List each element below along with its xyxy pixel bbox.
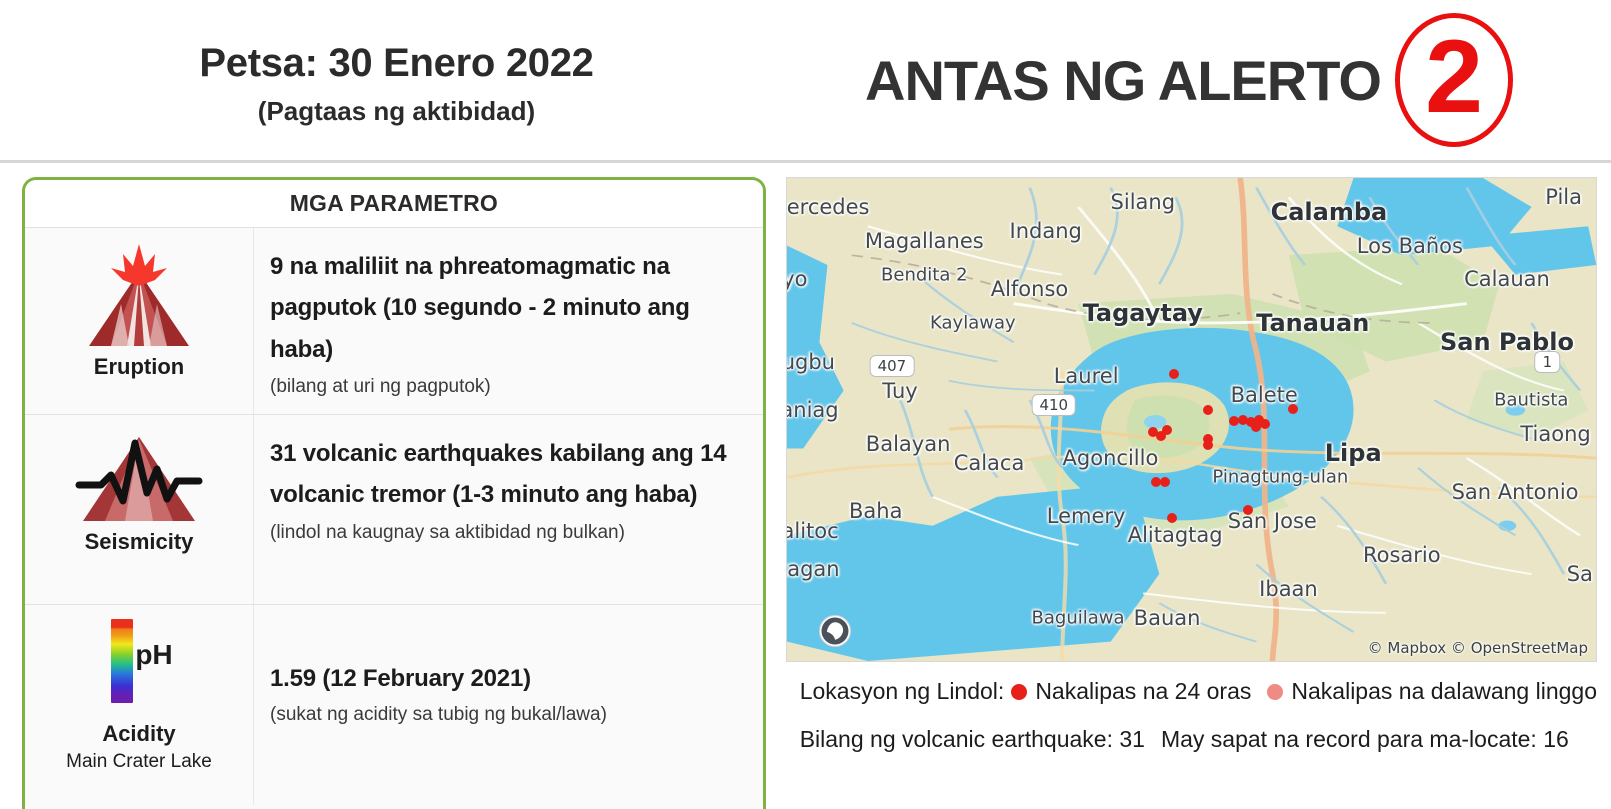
road-shield-label: 1: [1535, 351, 1561, 373]
road-shield-label: 410: [1031, 394, 1076, 416]
acidity-value: 1.59 (12 February 2021): [270, 663, 745, 694]
road-shield-label: 407: [870, 355, 915, 377]
legend-older-label: Nakalipas na dalawang linggo: [1291, 678, 1597, 706]
parameter-row-eruption: Eruption 9 na maliliit na phreatomagmati…: [25, 228, 763, 415]
alert-level-number: 2: [1395, 13, 1513, 147]
acidity-label: Acidity: [102, 721, 175, 747]
earthquake-marker[interactable]: [1160, 477, 1170, 487]
eruption-caption: (bilang at uri ng pagputok): [270, 374, 745, 400]
seismograph-icon: [73, 429, 205, 525]
earthquake-marker[interactable]: [1162, 425, 1172, 435]
header-bar: Petsa: 30 Enero 2022 (Pagtaas ng aktibid…: [0, 0, 1611, 163]
ph-icon-text: pH: [135, 641, 172, 669]
page-title: Petsa: 30 Enero 2022: [199, 41, 593, 85]
legend-recent-label: Nakalipas na 24 oras: [1035, 678, 1251, 706]
alert-level-label: ANTAS NG ALERTO: [865, 48, 1381, 113]
map-legend: Lokasyon ng Lindol: Nakalipas na 24 oras…: [786, 662, 1597, 753]
main-content: MGA PARAMETRO Eruption 9: [0, 163, 1611, 809]
parameters-panel: MGA PARAMETRO Eruption 9: [22, 177, 766, 809]
ph-gradient-bar: [111, 619, 133, 703]
seismicity-icon-cell: Seismicity: [25, 415, 253, 555]
eruption-text-cell: 9 na maliliit na phreatomagmatic na pagp…: [253, 228, 763, 414]
earthquake-marker[interactable]: [1243, 505, 1253, 515]
earthquake-marker[interactable]: [1203, 440, 1213, 450]
legend-location-label: Lokasyon ng Lindol:: [800, 678, 1005, 706]
eruption-label: Eruption: [94, 354, 184, 380]
page-subtitle: (Pagtaas ng aktibidad): [258, 97, 535, 126]
eruption-icon-cell: Eruption: [25, 228, 253, 380]
acidity-caption: (sukat ng acidity sa tubig ng bukal/lawa…: [270, 702, 745, 728]
legend-count-label: Bilang ng volcanic earthquake: 31: [800, 726, 1145, 754]
parameter-row-acidity: pH Acidity Main Crater Lake 1.59 (12 Feb…: [25, 605, 763, 805]
seismicity-caption: (lindol na kaugnay sa aktibidad ng bulka…: [270, 520, 745, 546]
earthquake-marker[interactable]: [1151, 477, 1161, 487]
parameters-panel-title: MGA PARAMETRO: [25, 180, 763, 228]
legend-line-counts: Bilang ng volcanic earthquake: 31 May sa…: [800, 726, 1597, 754]
seismicity-text-cell: 31 volcanic earthquakes kabilang ang 14 …: [253, 415, 763, 604]
seismicity-value: 31 volcanic earthquakes kabilang ang 14 …: [270, 433, 745, 516]
legend-recent-dot-icon: [1011, 684, 1027, 700]
alert-level-block: ANTAS NG ALERTO 2: [793, 0, 1611, 160]
acidity-text-cell: 1.59 (12 February 2021) (sukat ng acidit…: [253, 605, 763, 805]
eruption-value: 9 na maliliit na phreatomagmatic na pagp…: [270, 246, 745, 370]
map-attribution: © Mapbox © OpenStreetMap: [1368, 639, 1588, 657]
earthquake-marker[interactable]: [1167, 513, 1177, 523]
map-basemap: [787, 178, 1596, 661]
earthquake-marker[interactable]: [1203, 405, 1213, 415]
ph-scale-icon: pH: [105, 619, 172, 717]
volcano-icon: [81, 242, 197, 350]
legend-located-label: May sapat na record para ma-locate: 16: [1161, 726, 1569, 754]
legend-line-locations: Lokasyon ng Lindol: Nakalipas na 24 oras…: [800, 678, 1597, 706]
mapbox-logo-icon[interactable]: [819, 615, 851, 647]
acidity-icon-cell: pH Acidity Main Crater Lake: [25, 605, 253, 773]
acidity-sublabel: Main Crater Lake: [66, 751, 212, 773]
earthquake-marker[interactable]: [1288, 404, 1298, 414]
map-section: MercedesMagallanesBendita 2yoIndangSilan…: [780, 163, 1611, 809]
alert-level-badge: 2: [1395, 13, 1513, 147]
legend-older-dot-icon: [1267, 684, 1283, 700]
earthquake-map[interactable]: MercedesMagallanesBendita 2yoIndangSilan…: [786, 177, 1597, 662]
header-date-block: Petsa: 30 Enero 2022 (Pagtaas ng aktibid…: [0, 0, 793, 160]
earthquake-marker[interactable]: [1169, 369, 1179, 379]
seismicity-label: Seismicity: [85, 529, 194, 555]
parameters-section: MGA PARAMETRO Eruption 9: [0, 163, 780, 809]
mapbox-glyph-icon: [820, 616, 850, 646]
parameter-row-seismicity: Seismicity 31 volcanic earthquakes kabil…: [25, 415, 763, 605]
earthquake-marker[interactable]: [1260, 419, 1270, 429]
